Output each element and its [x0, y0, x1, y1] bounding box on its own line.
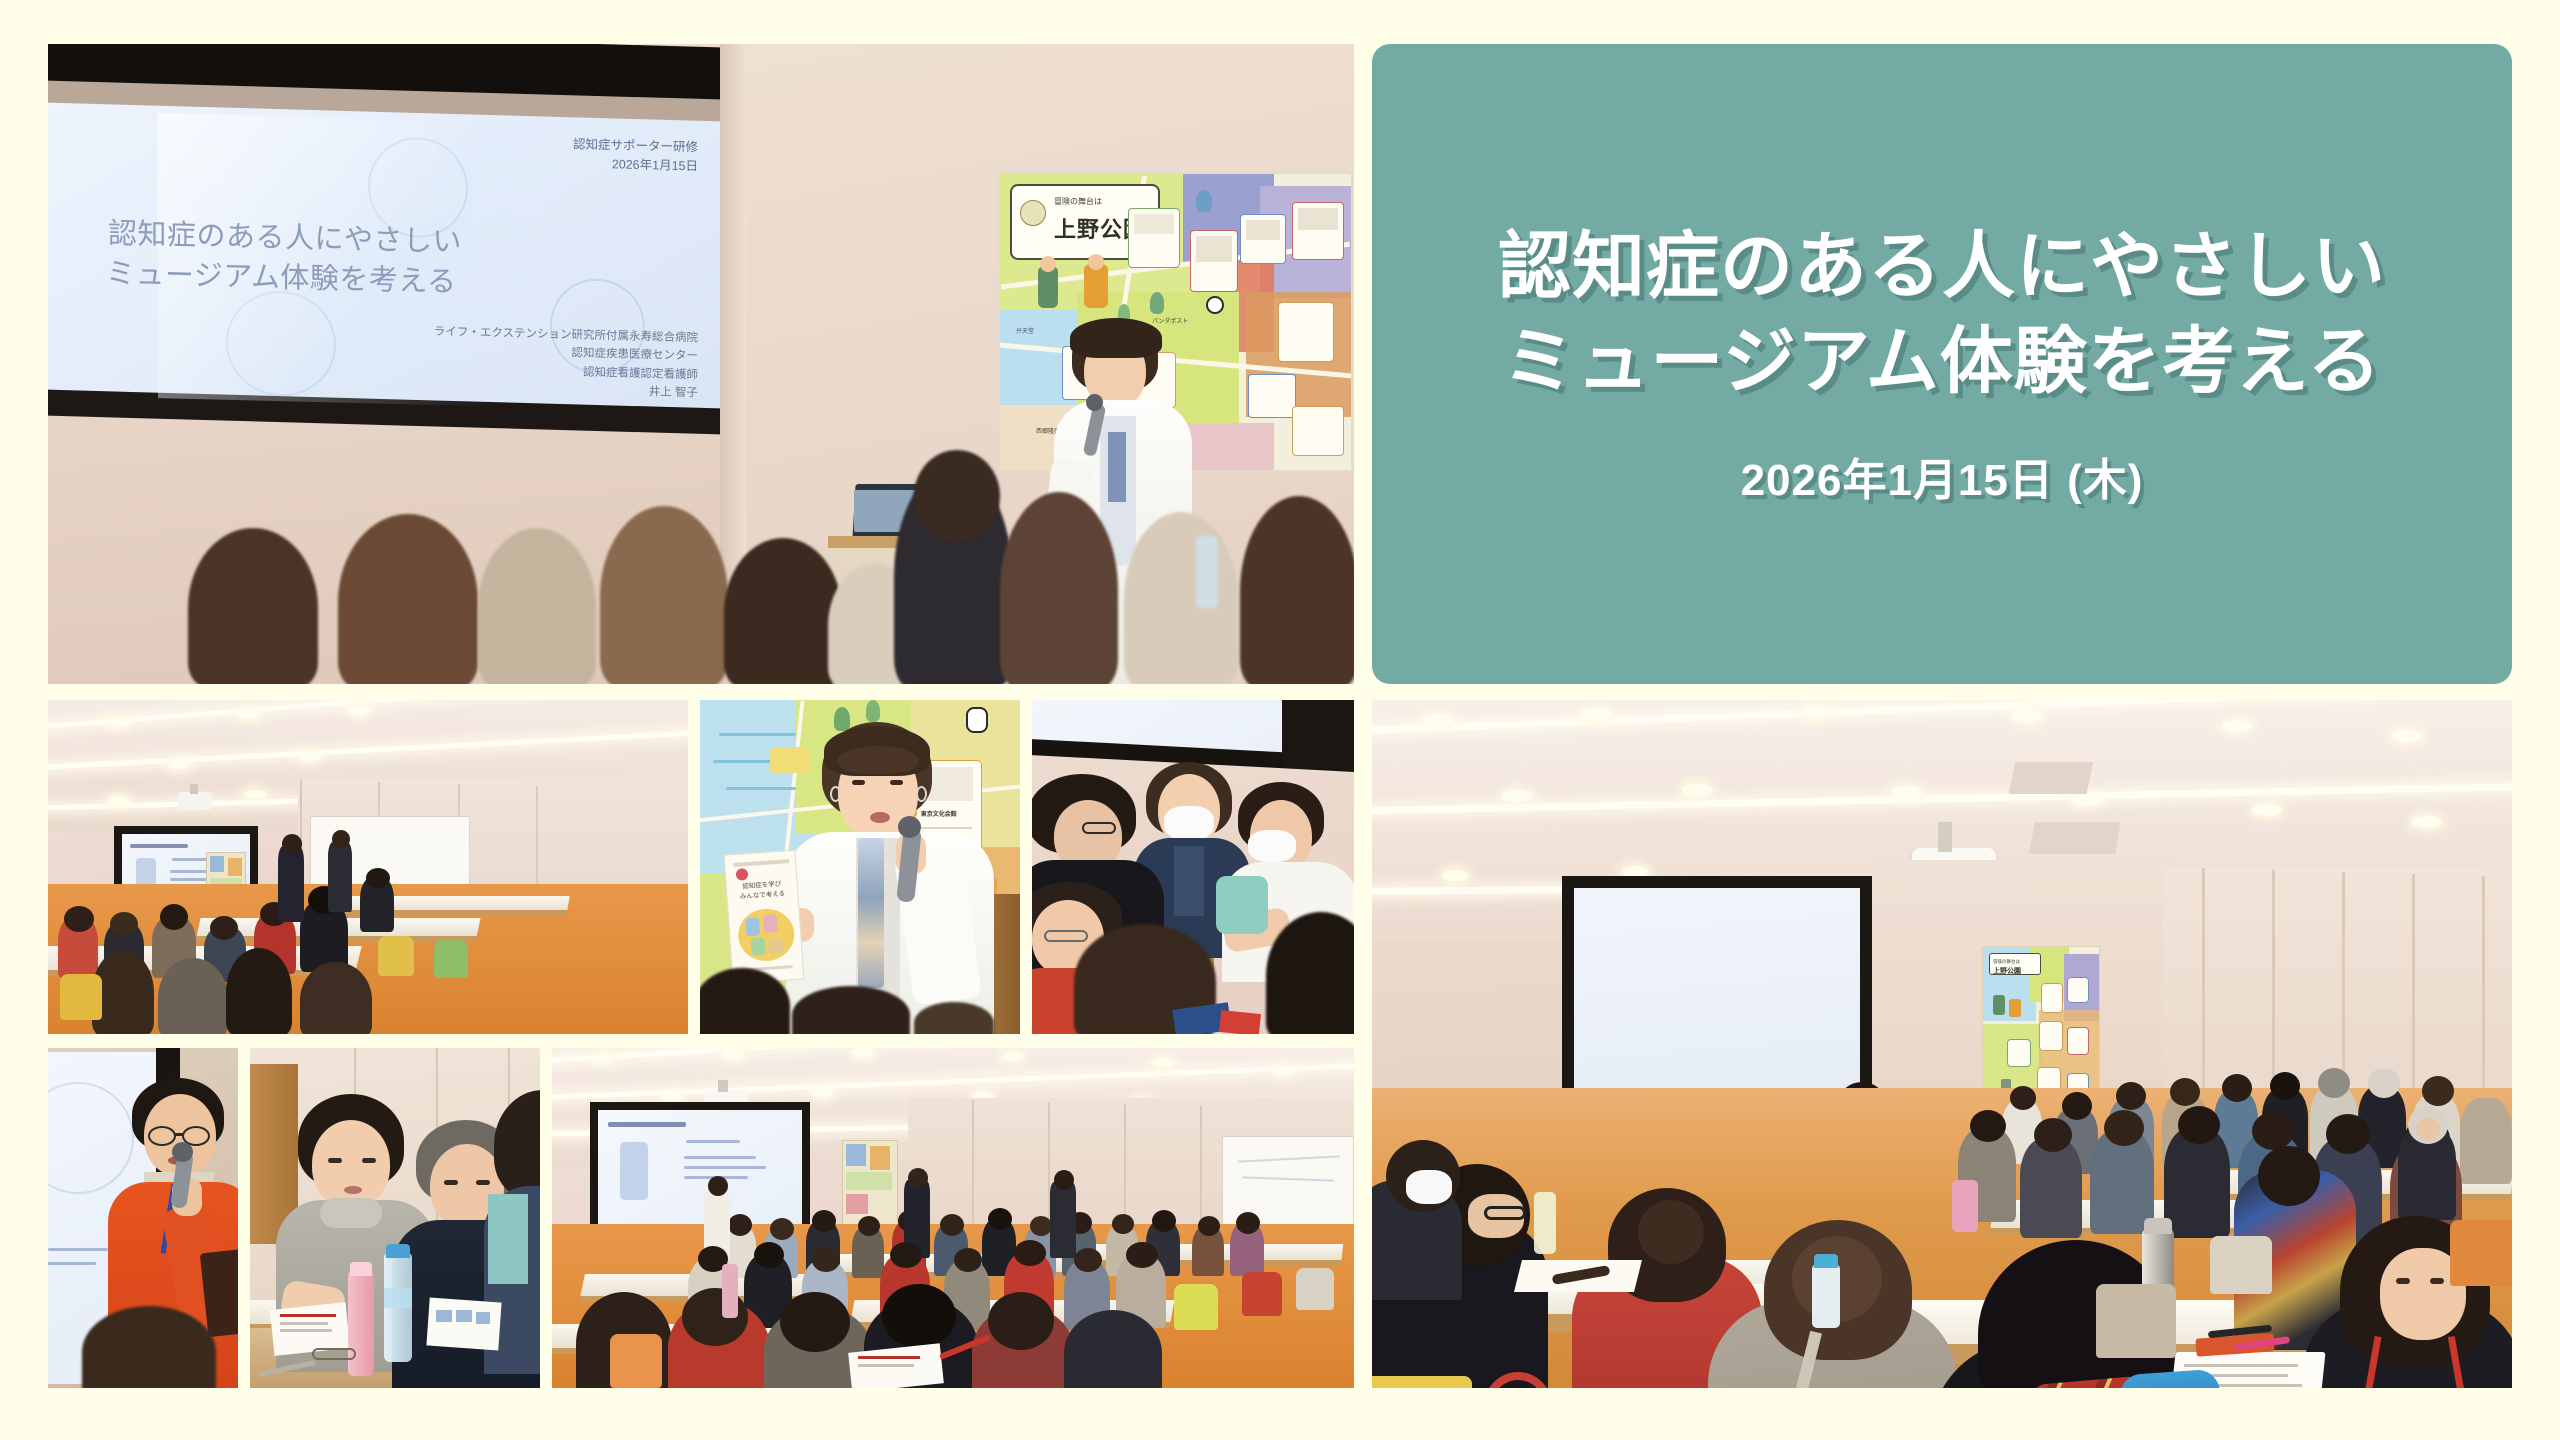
photo-lecture-slide: 認知症サポーター研修 2026年1月15日 認知症のある人にやさしい ミュージア…	[48, 44, 1354, 684]
photo-worksheet	[250, 1048, 540, 1388]
photo-collage-page: 認知症サポーター研修 2026年1月15日 認知症のある人にやさしい ミュージア…	[0, 0, 2560, 1440]
photo-room-wide-right: 冒険の舞台は 上野公園	[1372, 700, 2512, 1388]
event-date: 2026年1月15日 (木)	[1741, 444, 2144, 508]
slide-header-line2: 2026年1月15日	[573, 155, 698, 177]
photo-room-wide-bottom	[552, 1048, 1354, 1388]
title-panel: 認知症のある人にやさしい ミュージアム体験を考える 2026年1月15日 (木)	[1372, 44, 2512, 684]
pamphlet: 認知症を学び みんなで考える	[724, 850, 805, 985]
photo-room-wide-left	[48, 700, 688, 1034]
photo-group-discussion	[1032, 700, 1354, 1034]
photo-presenter-orange	[48, 1048, 238, 1388]
title-line-1: 認知症のある人にやさしい	[1498, 220, 2386, 315]
title-line-2: ミュージアム体験を考える	[1502, 315, 2381, 410]
poster-badge: 冒険の舞台は	[1054, 196, 1102, 207]
poster-label-0: 弁天堂	[1016, 326, 1034, 335]
slide-header-line1: 認知症サポーター研修	[573, 135, 698, 157]
photo-speaker-pamphlet: パンダポスト 東京文化会館 公園 上野	[700, 700, 1020, 1034]
